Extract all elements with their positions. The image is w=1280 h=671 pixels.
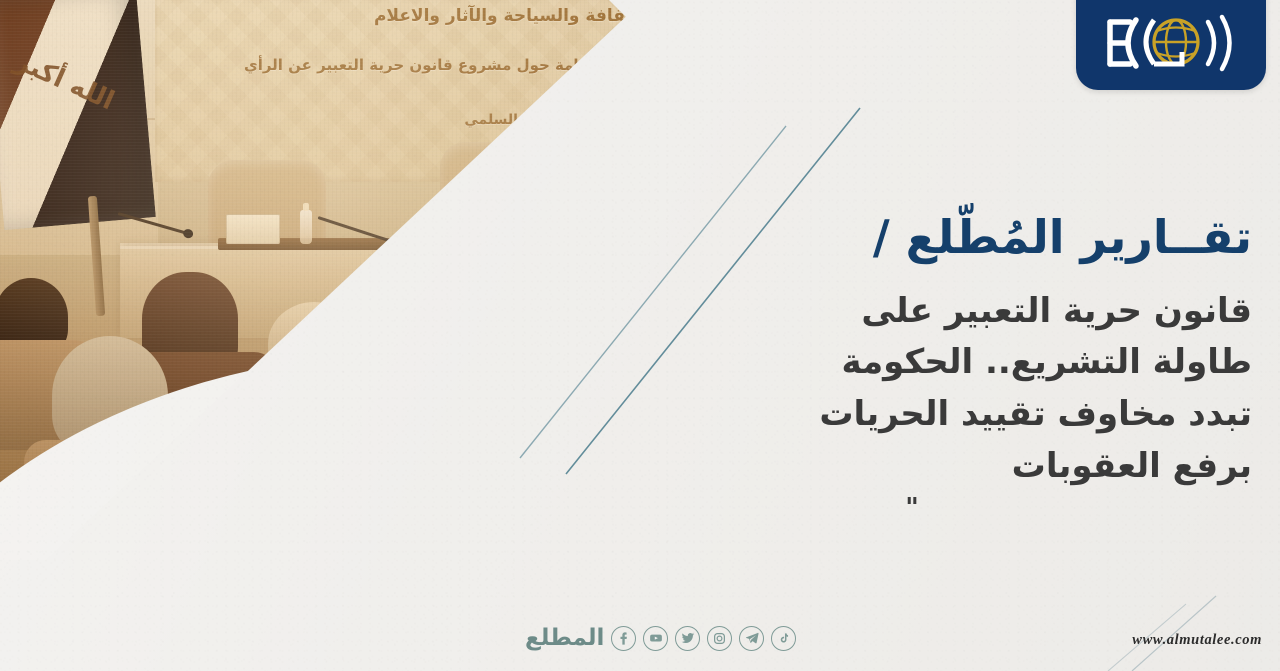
audience-head [248, 336, 384, 482]
audience-body [214, 466, 424, 560]
globe-icon [1154, 20, 1198, 64]
headline: قانون حرية التعبير على طاولة التشريع.. ا… [692, 286, 1252, 493]
tiktok-glyph [778, 632, 790, 645]
tiktok-icon[interactable] [771, 626, 796, 651]
youtube-glyph [649, 631, 663, 645]
microphone [600, 218, 684, 243]
kicker-label: تقــارير المُطّلع / [692, 212, 1252, 264]
news-card: ولجنة الثقافة والسياحة والآثار والاعلام … [0, 0, 1280, 671]
headline-line-4: برفع العقوبات [692, 441, 1252, 493]
instagram-icon[interactable] [707, 626, 732, 651]
telegram-icon[interactable] [739, 626, 764, 651]
audience-seat [404, 438, 584, 526]
youtube-icon[interactable] [643, 626, 668, 651]
headline-line-2: طاولة التشريع.. الحكومة [692, 337, 1252, 389]
brand-social-row: المطلع [519, 625, 796, 651]
instagram-glyph [713, 632, 726, 645]
facebook-icon[interactable] [611, 626, 636, 651]
audience-seat [160, 432, 350, 522]
headline-line-3: تبدد مخاوف تقييد الحريات [692, 389, 1252, 441]
logo-mark [1096, 6, 1246, 80]
photo-corner-round-topright [720, 0, 840, 120]
name-placard [556, 216, 616, 248]
headline-line-1: قانون حرية التعبير على [692, 286, 1252, 338]
facebook-glyph [617, 632, 630, 645]
audience-head [418, 270, 516, 380]
audience-body [398, 358, 544, 488]
telegram-glyph [745, 631, 759, 645]
almutalee-globe-logo[interactable] [1076, 0, 1266, 90]
website-url[interactable]: www.almutalee.com [1132, 632, 1262, 649]
twitter-icon[interactable] [675, 626, 700, 651]
article-text-block: تقــارير المُطّلع / قانون حرية التعبير ع… [692, 212, 1252, 519]
water-bottle [540, 212, 552, 246]
closing-quote-mark: " [692, 498, 1252, 519]
twitter-bird-glyph [681, 631, 695, 645]
wall-panel-right [712, 0, 840, 240]
brand-name: المطلع [525, 625, 604, 651]
